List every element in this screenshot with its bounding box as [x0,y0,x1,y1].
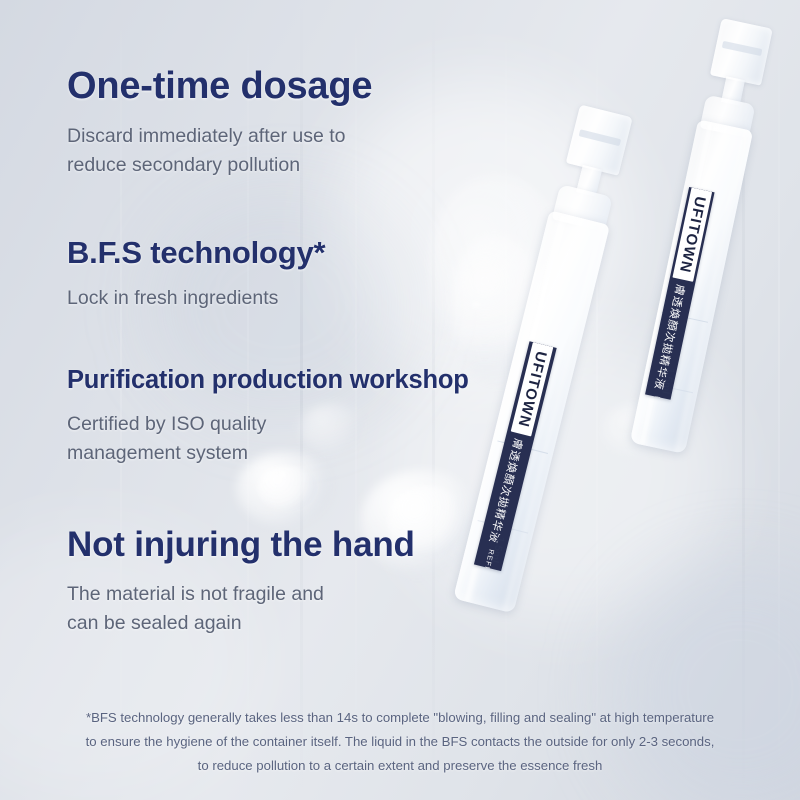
feature-heading: Purification production workshop [67,362,469,398]
feature-subtitle-line: Lock in fresh ingredients [67,284,325,313]
feature-block-one-time-dosage: One-time dosage Discard immediately afte… [67,62,372,180]
feature-heading: B.F.S technology* [67,232,325,274]
feature-subtitle-line: reduce secondary pollution [67,151,372,180]
feature-subtitle-line: can be sealed again [67,609,415,638]
footnote-line: to ensure the hygiene of the container i… [0,730,800,754]
feature-subtitle-line: The material is not fragile and [67,580,415,609]
product-feature-poster: UFITOWN 膚透煥顏次拋精华液 REFRESHING REJUVENATIN… [0,0,800,800]
feature-block-not-injuring-hand: Not injuring the hand The material is no… [67,522,415,638]
feature-subtitle-line: Discard immediately after use to [67,122,372,151]
feature-subtitle-line: management system [67,439,469,468]
feature-block-bfs-technology: B.F.S technology* Lock in fresh ingredie… [67,232,325,313]
footnote-line: to reduce pollution to a certain extent … [0,754,800,778]
footnote-disclaimer: *BFS technology generally takes less tha… [0,706,800,778]
footnote-line: *BFS technology generally takes less tha… [0,706,800,730]
feature-heading: One-time dosage [67,62,372,110]
feature-heading: Not injuring the hand [67,522,415,568]
feature-block-purification-workshop: Purification production workshop Certifi… [67,362,469,468]
feature-subtitle-line: Certified by ISO quality [67,410,469,439]
